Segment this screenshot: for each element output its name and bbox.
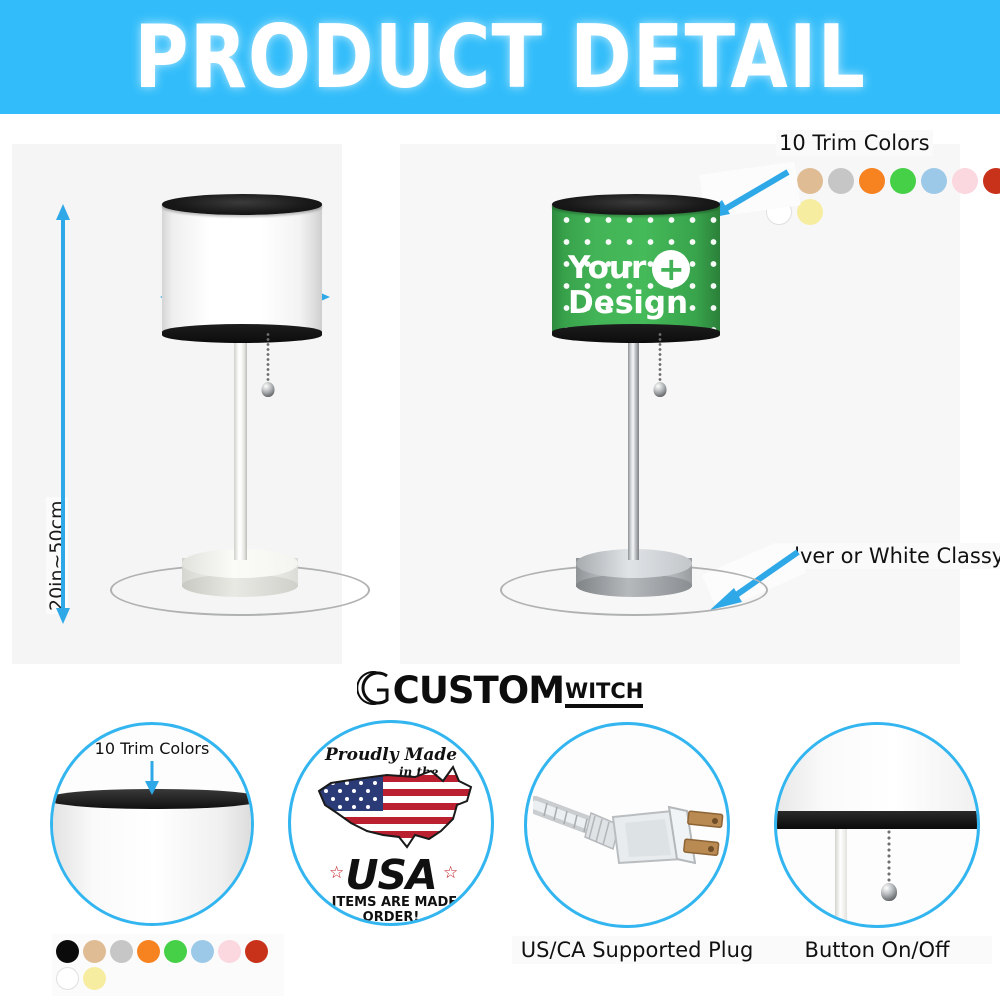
page-title: PRODUCT DETAIL — [134, 6, 866, 109]
feature-circle-trim: 10 Trim Colors — [50, 722, 254, 926]
brand-witch-block: WITCH — [565, 681, 643, 708]
usa-badge-big-text: USA — [291, 851, 491, 899]
lamp-white — [110, 194, 380, 664]
switch-pole — [835, 829, 847, 928]
shade-top-trim — [162, 194, 322, 215]
lamp-green: Your + Design — [500, 194, 780, 664]
feature-switch: Button On/Off — [762, 722, 992, 992]
trim-color-swatch-gray[interactable] — [110, 940, 133, 963]
feature-caption-switch: Button On/Off — [762, 936, 992, 964]
trim-color-swatch-pink[interactable] — [952, 168, 978, 194]
shade-bottom-trim — [552, 324, 720, 343]
lamp-shade-green: Your + Design — [552, 194, 720, 344]
trim-color-swatch-light-blue[interactable] — [191, 940, 214, 963]
lamp-shade-white — [162, 194, 322, 344]
switch-shade-trim — [774, 811, 980, 829]
feature-circle-plug — [524, 722, 730, 928]
lamp-pole-silver — [628, 332, 639, 560]
shade-body-blank — [162, 203, 322, 335]
brand-custom-text: CUSTOM — [393, 674, 564, 708]
feature-plug: US/CA Supported Plug — [512, 722, 762, 992]
page-header-banner: PRODUCT DETAIL — [0, 0, 1000, 114]
trim-colors-down-arrow — [141, 761, 163, 795]
switch-shade-body — [774, 722, 980, 815]
feature-circle-switch — [774, 722, 980, 928]
brand-logo: CUSTOM WITCH — [0, 664, 1000, 708]
feature-inner-label: 10 Trim Colors — [53, 739, 251, 758]
feature-trim-colors: 10 Trim Colors — [50, 722, 260, 1000]
pull-chain-line — [267, 332, 270, 384]
feature-circle-usa: Proudly Made in the — [288, 720, 494, 926]
trim-color-swatch-black[interactable] — [56, 940, 79, 963]
trim-color-swatch-green[interactable] — [890, 168, 916, 194]
your-design-text: Your + Design — [552, 250, 720, 320]
product-stage: 7in~18cm 20in~50cm — [0, 114, 1000, 659]
pull-chain-ball — [654, 382, 667, 397]
shade-top-trim — [552, 194, 720, 215]
usa-star-right-icon: ☆ — [443, 863, 458, 883]
plus-icon: + — [652, 250, 690, 288]
trim-color-swatch-light-yellow[interactable] — [83, 967, 106, 990]
lamp-pole-white — [234, 332, 247, 560]
feature-made-in-usa: Proudly Made in the — [288, 720, 500, 932]
trim-color-swatch-gray[interactable] — [828, 168, 854, 194]
pull-chain-silver — [652, 332, 668, 404]
switch-pull-chain — [887, 829, 891, 887]
shade-bottom-trim — [162, 324, 322, 343]
trim-color-swatch-red[interactable] — [983, 168, 1000, 194]
pull-chain-white — [260, 332, 276, 404]
trim-colors-swatch-grid — [52, 934, 284, 996]
brand-c-icon — [357, 668, 397, 708]
usa-badge-sub-text: ALL ITEMS ARE MADE TO ORDER! — [291, 895, 491, 925]
brand-witch-text: WITCH — [565, 681, 643, 702]
feature-caption-plug: US/CA Supported Plug — [512, 936, 762, 964]
trim-color-swatch-red[interactable] — [245, 940, 268, 963]
trim-color-swatch-light-blue[interactable] — [921, 168, 947, 194]
height-dimension-arrow — [55, 204, 71, 624]
pull-chain-line — [659, 332, 662, 384]
brand-underline — [565, 704, 643, 708]
trim-color-swatch-orange[interactable] — [137, 940, 160, 963]
pull-chain-ball — [262, 382, 275, 397]
us-plug-icon — [533, 763, 729, 893]
switch-chain-ball — [881, 883, 897, 901]
trim-color-swatch-white[interactable] — [56, 967, 79, 990]
trim-color-swatch-orange[interactable] — [859, 168, 885, 194]
trim-colors-callout-label: 10 Trim Colors — [776, 130, 933, 156]
design-word-design: Design — [568, 288, 688, 320]
design-word-your: Your — [568, 253, 646, 285]
design-line-1: Your + — [568, 250, 720, 288]
trim-color-swatch-tan[interactable] — [83, 940, 106, 963]
design-line-2: Design — [568, 288, 720, 320]
product-detail-page: PRODUCT DETAIL 7in~18cm 20in~50cm — [0, 0, 1000, 1000]
trim-color-swatch-pink[interactable] — [218, 940, 241, 963]
shade-closeup-body — [50, 803, 254, 926]
usa-flag-map-icon — [311, 761, 481, 853]
trim-color-swatch-green[interactable] — [164, 940, 187, 963]
